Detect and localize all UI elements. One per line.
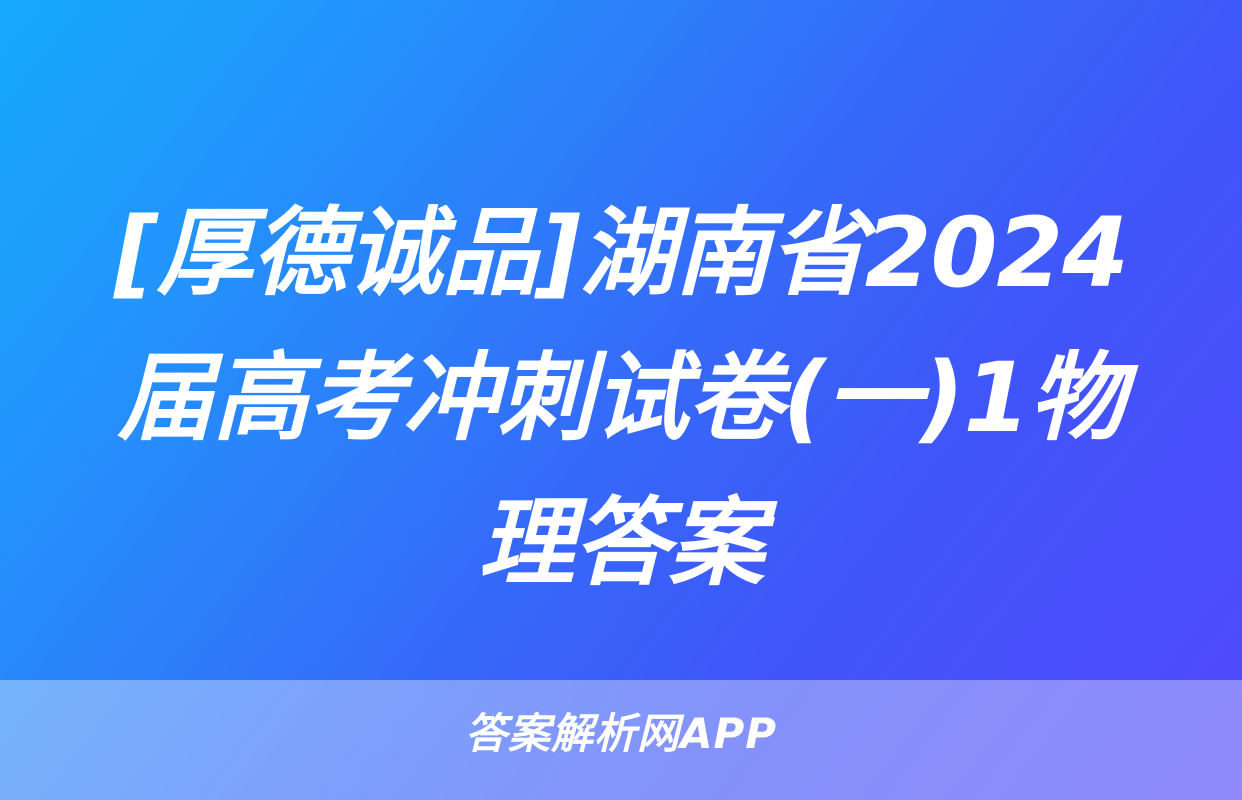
watermark: 答案解析网APP (0, 709, 1242, 759)
title-line-2: 届高考冲刺试卷(一)1物 (62, 326, 1180, 471)
title-line-1: [厚德诚品]湖南省2024 (62, 181, 1180, 326)
poster-canvas: [厚德诚品]湖南省2024 届高考冲刺试卷(一)1物 理答案 答案解析网APP (0, 0, 1242, 800)
title-line-3: 理答案 (62, 471, 1180, 616)
watermark-label: 答案解析网APP (465, 709, 777, 759)
page-title: [厚德诚品]湖南省2024 届高考冲刺试卷(一)1物 理答案 (0, 181, 1242, 616)
